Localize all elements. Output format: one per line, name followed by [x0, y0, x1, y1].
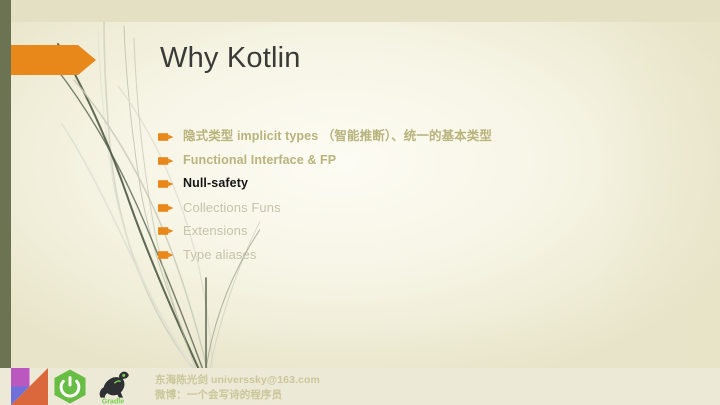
list-item-label: Null-safety — [183, 175, 248, 192]
arrow-bullet-icon — [158, 250, 174, 260]
bullet-list: 隐式类型 implicit types （智能推断）、统一的基本类型 Funct… — [158, 128, 678, 269]
footer-weibo: 微博：一个会写诗的程序员 — [155, 388, 320, 403]
list-item[interactable]: Extensions — [158, 222, 678, 246]
arrow-bullet-icon — [158, 226, 174, 236]
list-item-label: Collections Funs — [183, 199, 281, 216]
arrow-bullet-icon — [158, 179, 174, 189]
footer-author-email: 东海陈光剑 universsky@163.com — [155, 373, 320, 388]
arrow-bullet-icon — [158, 156, 174, 166]
slide-header-band — [0, 0, 720, 22]
gradle-logo: Gradle — [91, 368, 135, 405]
spring-boot-logo — [50, 368, 90, 405]
left-accent-rail — [0, 0, 11, 405]
presentation-slide: 《Spring Boot 2.0极简教程》：基于 Gradle + Kotlin… — [0, 0, 720, 405]
list-item[interactable]: Type aliases — [158, 246, 678, 270]
list-item-label: Functional Interface & FP — [183, 152, 336, 169]
footer-logo-group: Gradle — [11, 368, 135, 405]
list-item[interactable]: Collections Funs — [158, 199, 678, 223]
list-item[interactable]: Null-safety — [158, 175, 678, 199]
orange-arrow-banner — [0, 45, 96, 75]
list-item-label: Type aliases — [183, 246, 256, 263]
page-title: Why Kotlin — [160, 40, 301, 76]
arrow-bullet-icon — [158, 203, 174, 213]
list-item-label: Extensions — [183, 222, 248, 239]
list-item[interactable]: 隐式类型 implicit types （智能推断）、统一的基本类型 — [158, 128, 678, 152]
arrow-bullet-icon — [158, 132, 174, 142]
footer-contact-block: 东海陈光剑 universsky@163.com 微博：一个会写诗的程序员 — [155, 373, 320, 403]
list-item[interactable]: Functional Interface & FP — [158, 152, 678, 176]
list-item-label: 隐式类型 implicit types （智能推断）、统一的基本类型 — [183, 128, 492, 145]
gradle-wordmark: Gradle — [102, 399, 124, 405]
kotlin-logo — [11, 368, 48, 405]
